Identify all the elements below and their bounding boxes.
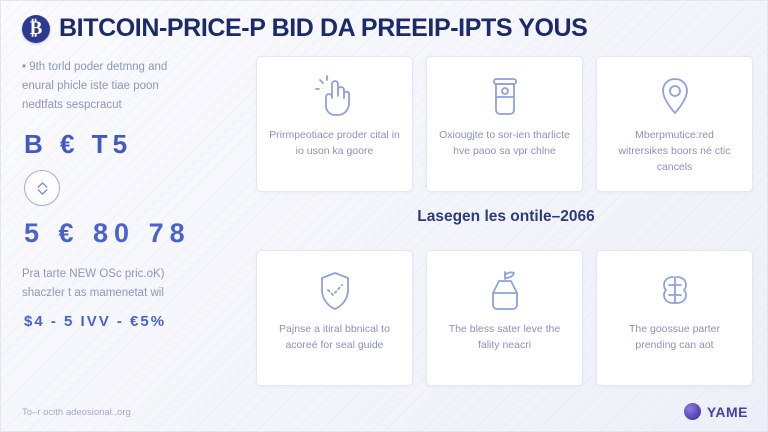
bitcoin-badge-icon: ₿ bbox=[22, 15, 50, 43]
card-top-1[interactable]: Prirmpeotiace proder cital in io uson ka… bbox=[256, 56, 413, 192]
shield-check-icon bbox=[315, 265, 355, 317]
note-paragraph: Pra tarte NEW OSc pric.oK) shaczler t as… bbox=[22, 265, 240, 303]
note-line-2: shaczler t as mamenetat wil bbox=[22, 287, 164, 299]
card-caption: Pajnse a itiral bbnical to acoreé for se… bbox=[269, 321, 400, 353]
card-caption: Prirmpeotiace proder cital in io uson ka… bbox=[269, 127, 400, 159]
top-card-grid: Prirmpeotiace proder cital in io uson ka… bbox=[256, 56, 753, 192]
swap-vertical-icon[interactable] bbox=[24, 170, 60, 206]
section-subtitle: Lasegen les ontile–2066 bbox=[256, 208, 756, 226]
secondary-price-value: 5 € 80 78 bbox=[24, 218, 240, 249]
lede-paragraph: • 9th torld poder detmng and enural phic… bbox=[22, 58, 240, 115]
card-bottom-3[interactable]: The goossue parter prending can aot bbox=[596, 250, 753, 386]
left-column: • 9th torld poder detmng and enural phic… bbox=[22, 58, 240, 330]
brand-name: YAME bbox=[707, 404, 748, 420]
circle-logo-icon bbox=[684, 403, 701, 420]
lede-line-3: nedtfats sespcracut bbox=[22, 99, 122, 111]
card-bottom-2[interactable]: The bless sater leve the fality neacri bbox=[426, 250, 583, 386]
primary-price-value: B € T5 bbox=[24, 129, 240, 160]
percent-change-row: $4 - 5 IVV - €5% bbox=[24, 313, 240, 330]
piggy-jar-icon bbox=[485, 71, 525, 123]
page-header: ₿ BITCOIN-PRICE-P BID DA PREEIP-IPTS YOU… bbox=[22, 14, 587, 43]
card-caption: Oxiougjte to sor-ien tharlicte hve paoo … bbox=[439, 127, 570, 159]
hand-tap-icon bbox=[315, 71, 355, 123]
infographic-page: ₿ BITCOIN-PRICE-P BID DA PREEIP-IPTS YOU… bbox=[0, 0, 768, 432]
brand-mark: YAME bbox=[684, 403, 748, 420]
bottom-card-grid: Pajnse a itiral bbnical to acoreé for se… bbox=[256, 250, 753, 386]
card-top-2[interactable]: Oxiougjte to sor-ien tharlicte hve paoo … bbox=[426, 56, 583, 192]
lede-line-2: enural phicle iste tiae poon bbox=[22, 80, 159, 92]
card-caption: Mberpmutice:red witrersikes boors né cti… bbox=[609, 127, 740, 175]
card-caption: The bless sater leve the fality neacri bbox=[439, 321, 570, 353]
map-pin-icon bbox=[655, 71, 695, 123]
page-title: BITCOIN-PRICE-P BID DA PREEIP-IPTS YOUS bbox=[59, 14, 587, 43]
note-line-1: Pra tarte NEW OSc pric.oK) bbox=[22, 268, 165, 280]
brain-icon bbox=[655, 265, 695, 317]
card-top-3[interactable]: Mberpmutice:red witrersikes boors né cti… bbox=[596, 56, 753, 192]
card-caption: The goossue parter prending can aot bbox=[609, 321, 740, 353]
money-bag-icon bbox=[485, 265, 525, 317]
card-bottom-1[interactable]: Pajnse a itiral bbnical to acoreé for se… bbox=[256, 250, 413, 386]
lede-line-1: • 9th torld poder detmng and bbox=[22, 61, 167, 73]
footer-note: To–r ocith adeosional.,org bbox=[22, 407, 131, 418]
